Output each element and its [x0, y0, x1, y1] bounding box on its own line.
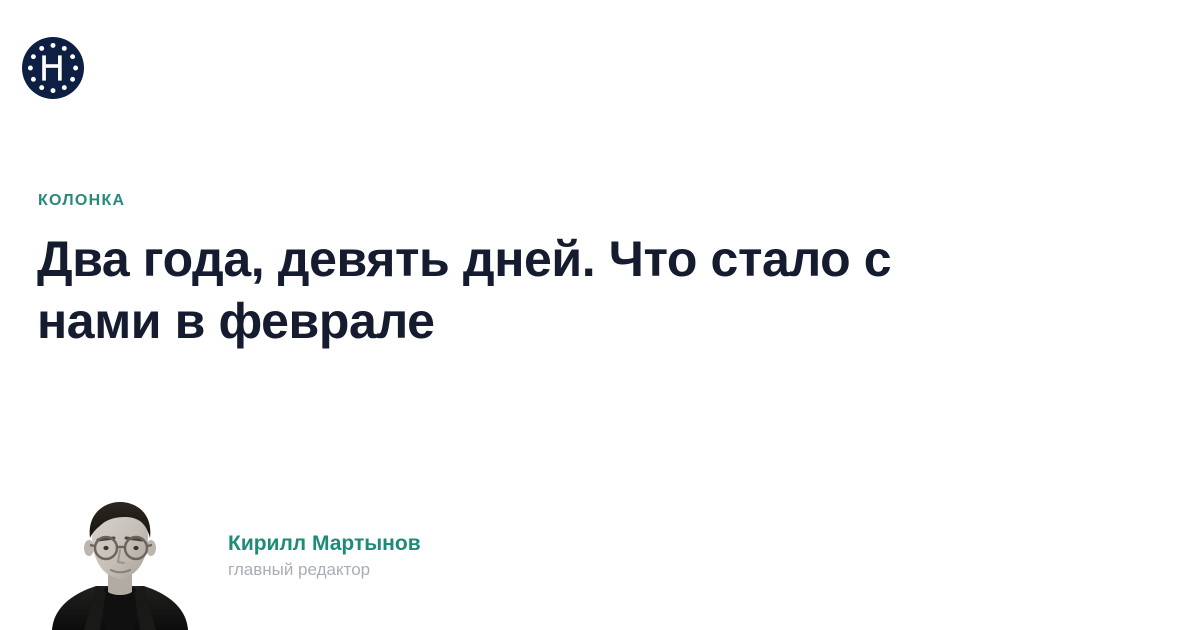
- author-info: Кирилл Мартынов главный редактор: [228, 531, 628, 581]
- author-avatar: [40, 500, 200, 630]
- author-portrait-image: [40, 500, 200, 630]
- article-headline[interactable]: Два года, девять дней. Что стало с нами …: [37, 228, 997, 352]
- article-rubric[interactable]: КОЛОНКА: [38, 191, 125, 210]
- novaya-gazeta-roundel-icon: [22, 37, 84, 99]
- author-name[interactable]: Кирилл Мартынов: [228, 531, 628, 557]
- author-role: главный редактор: [228, 559, 628, 581]
- site-logo[interactable]: [22, 37, 84, 99]
- social-share-card: КОЛОНКА Два года, девять дней. Что стало…: [0, 0, 1200, 630]
- author-byline[interactable]: Кирилл Мартынов главный редактор: [40, 500, 640, 630]
